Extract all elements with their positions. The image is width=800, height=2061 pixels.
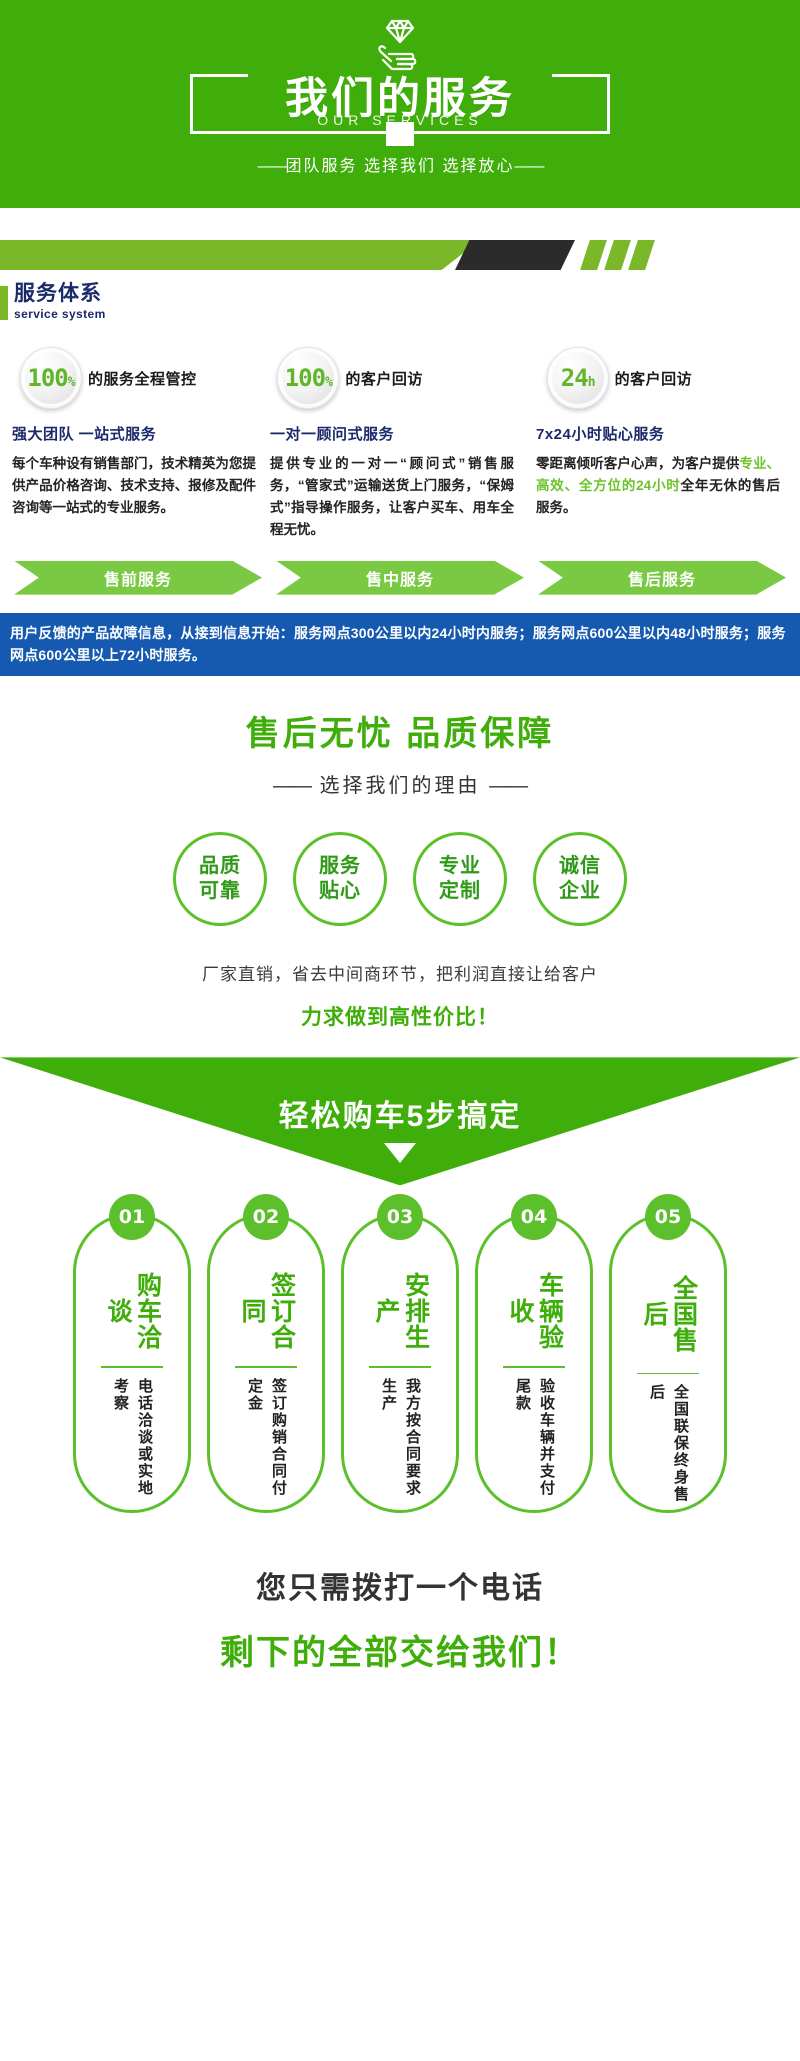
caret-down-icon	[384, 1143, 416, 1163]
guarantee-oval-4: 诚信 企业	[533, 832, 627, 926]
service-system-title-en: service system	[14, 307, 800, 321]
service-system-title: 服务体系 service system	[0, 282, 800, 321]
step-5-number: 05	[645, 1194, 691, 1240]
guarantee-oval-3: 专业 定制	[413, 832, 507, 926]
service-column-1-body: 每个车种设有销售部门，技术精英为您提供产品价格咨询、技术支持、报修及配件咨询等一…	[12, 453, 256, 519]
step-1-divider	[101, 1366, 163, 1368]
badge-number-1: 100%	[27, 366, 74, 390]
body-pre: 零距离倾听客户心声，为客户提供	[536, 456, 739, 471]
header-notch	[386, 122, 414, 146]
badge-circle-icon-1: 100%	[20, 347, 82, 409]
service-column-1-heading: 强大团队 一站式服务	[12, 423, 256, 444]
chevron-row: 售前服务 售中服务 售后服务	[0, 561, 800, 595]
service-column-3-heading: 7x24小时贴心服务	[536, 423, 780, 444]
service-column-2-body: 提供专业的一对一“顾问式”销售服务，“管家式”运输送货上门服务，“保姆式”指导操…	[270, 453, 514, 540]
step-3-title: 安排生产	[371, 1266, 430, 1356]
guarantee-oval-row: 品质 可靠 服务 贴心 专业 定制 诚信 企业	[0, 832, 800, 926]
header-tagline-text: 团队服务 选择我们 选择放心	[286, 158, 515, 175]
process-banner: 轻松购车5步搞定	[0, 1057, 800, 1185]
service-column-1: 强大团队 一站式服务 每个车种设有销售部门，技术精英为您提供产品价格咨询、技术支…	[6, 423, 270, 540]
step-4-title: 车辆验收	[505, 1266, 564, 1356]
process-step-1: 01 购车洽谈 电话洽谈或实地考察	[73, 1213, 191, 1513]
badge-label-2: 的客户回访	[345, 368, 423, 389]
process-banner-title: 轻松购车5步搞定	[0, 1091, 800, 1135]
step-1-desc: 电话洽谈或实地考察	[108, 1378, 156, 1510]
oval-2-line2: 贴心	[319, 879, 361, 904]
service-column-3: 7x24小时贴心服务 零距离倾听客户心声，为客户提供专业、高效、全方位的24小时…	[528, 423, 794, 540]
badge-label-3: 的客户回访	[615, 368, 693, 389]
header-tagline: ——团队服务 选择我们 选择放心——	[0, 152, 800, 176]
badge-number-3: 24h	[561, 366, 595, 390]
service-columns: 强大团队 一站式服务 每个车种设有销售部门，技术精英为您提供产品价格咨询、技术支…	[0, 423, 800, 540]
oval-4-line1: 诚信	[559, 854, 601, 879]
guarantee-oval-2: 服务 贴心	[293, 832, 387, 926]
badge-item-3: 24h 的客户回访	[525, 347, 794, 409]
decor-green-shape	[0, 240, 480, 270]
oval-2-line1: 服务	[319, 854, 361, 879]
badge-item-1: 100% 的服务全程管控	[6, 347, 267, 409]
title-accent-bar	[0, 286, 8, 320]
oval-1-line1: 品质	[199, 854, 241, 879]
oval-3-line1: 专业	[439, 854, 481, 879]
step-3-number: 03	[377, 1194, 423, 1240]
guarantee-line-1: 厂家直销，省去中间商环节，把利润直接让给客户	[0, 960, 800, 985]
guarantee-subtitle-text: 选择我们的理由	[320, 775, 481, 797]
step-2-divider	[235, 1366, 297, 1368]
step-5-divider	[637, 1373, 699, 1375]
badge-row: 100% 的服务全程管控 100% 的客户回访 24h 的客户回访	[0, 347, 800, 409]
step-4-divider	[503, 1366, 565, 1368]
process-step-3: 03 安排生产 我方按合同要求生产	[341, 1213, 459, 1513]
footer-line-1: 您只需拨打一个电话	[0, 1563, 800, 1607]
step-3-desc: 我方按合同要求生产	[376, 1378, 424, 1510]
service-column-2: 一对一顾问式服务 提供专业的一对一“顾问式”销售服务，“管家式”运输送货上门服务…	[270, 423, 528, 540]
step-5-desc: 全国联保终身售后	[644, 1384, 692, 1510]
badge-number-2: 100%	[285, 366, 332, 390]
footer-line-2: 剩下的全部交给我们！	[0, 1625, 800, 1674]
service-column-2-heading: 一对一顾问式服务	[270, 423, 514, 444]
process-step-4: 04 车辆验收 验收车辆并支付尾款	[475, 1213, 593, 1513]
step-2-title: 签订合同	[237, 1266, 296, 1356]
process-step-5: 05 全国售后 全国联保终身售后	[609, 1213, 727, 1513]
decor-bar	[0, 232, 800, 278]
guarantee-oval-1: 品质 可靠	[173, 832, 267, 926]
step-2-number: 02	[243, 1194, 289, 1240]
process-step-2: 02 签订合同 签订购销合同付定金	[207, 1213, 325, 1513]
oval-1-line2: 可靠	[199, 879, 241, 904]
badge-circle-icon-3: 24h	[547, 347, 609, 409]
decor-slash-3	[628, 240, 655, 270]
badge-circle-icon-2: 100%	[277, 347, 339, 409]
step-1-number: 01	[109, 1194, 155, 1240]
chevron-after-sale[interactable]: 售后服务	[538, 561, 786, 595]
decor-black-shape	[455, 240, 575, 270]
service-notice-bar: 用户反馈的产品故障信息，从接到信息开始：服务网点300公里以内24小时内服务；服…	[0, 613, 800, 677]
oval-4-line2: 企业	[559, 879, 601, 904]
badge-label-1: 的服务全程管控	[88, 368, 197, 389]
guarantee-subtitle: —— 选择我们的理由 ——	[0, 769, 800, 798]
step-5-title: 全国售后	[639, 1266, 698, 1362]
step-3-divider	[369, 1366, 431, 1368]
service-system-title-cn: 服务体系	[14, 282, 800, 306]
chevron-pre-sale[interactable]: 售前服务	[14, 561, 262, 595]
chevron-during-sale[interactable]: 售中服务	[276, 561, 524, 595]
subtitle-dash-right: ——	[489, 775, 527, 797]
oval-3-line2: 定制	[439, 879, 481, 904]
guarantee-line-2: 力求做到高性价比！	[0, 1001, 800, 1031]
page-header: 我们的服务 OUR SERVICES ——团队服务 选择我们 选择放心——	[0, 0, 800, 208]
badge-item-2: 100% 的客户回访	[267, 347, 524, 409]
guarantee-title: 售后无忧 品质保障	[0, 706, 800, 755]
subtitle-dash-left: ——	[273, 775, 311, 797]
step-2-desc: 签订购销合同付定金	[242, 1378, 290, 1510]
step-4-desc: 验收车辆并支付尾款	[510, 1378, 558, 1510]
step-1-title: 购车洽谈	[103, 1266, 162, 1356]
process-step-row: 01 购车洽谈 电话洽谈或实地考察 02 签订合同 签订购销合同付定金 03 安…	[0, 1213, 800, 1513]
service-column-3-body: 零距离倾听客户心声，为客户提供专业、高效、全方位的24小时全年无休的售后服务。	[536, 453, 780, 519]
decor-slash-2	[604, 240, 631, 270]
decor-slash-1	[580, 240, 607, 270]
step-4-number: 04	[511, 1194, 557, 1240]
